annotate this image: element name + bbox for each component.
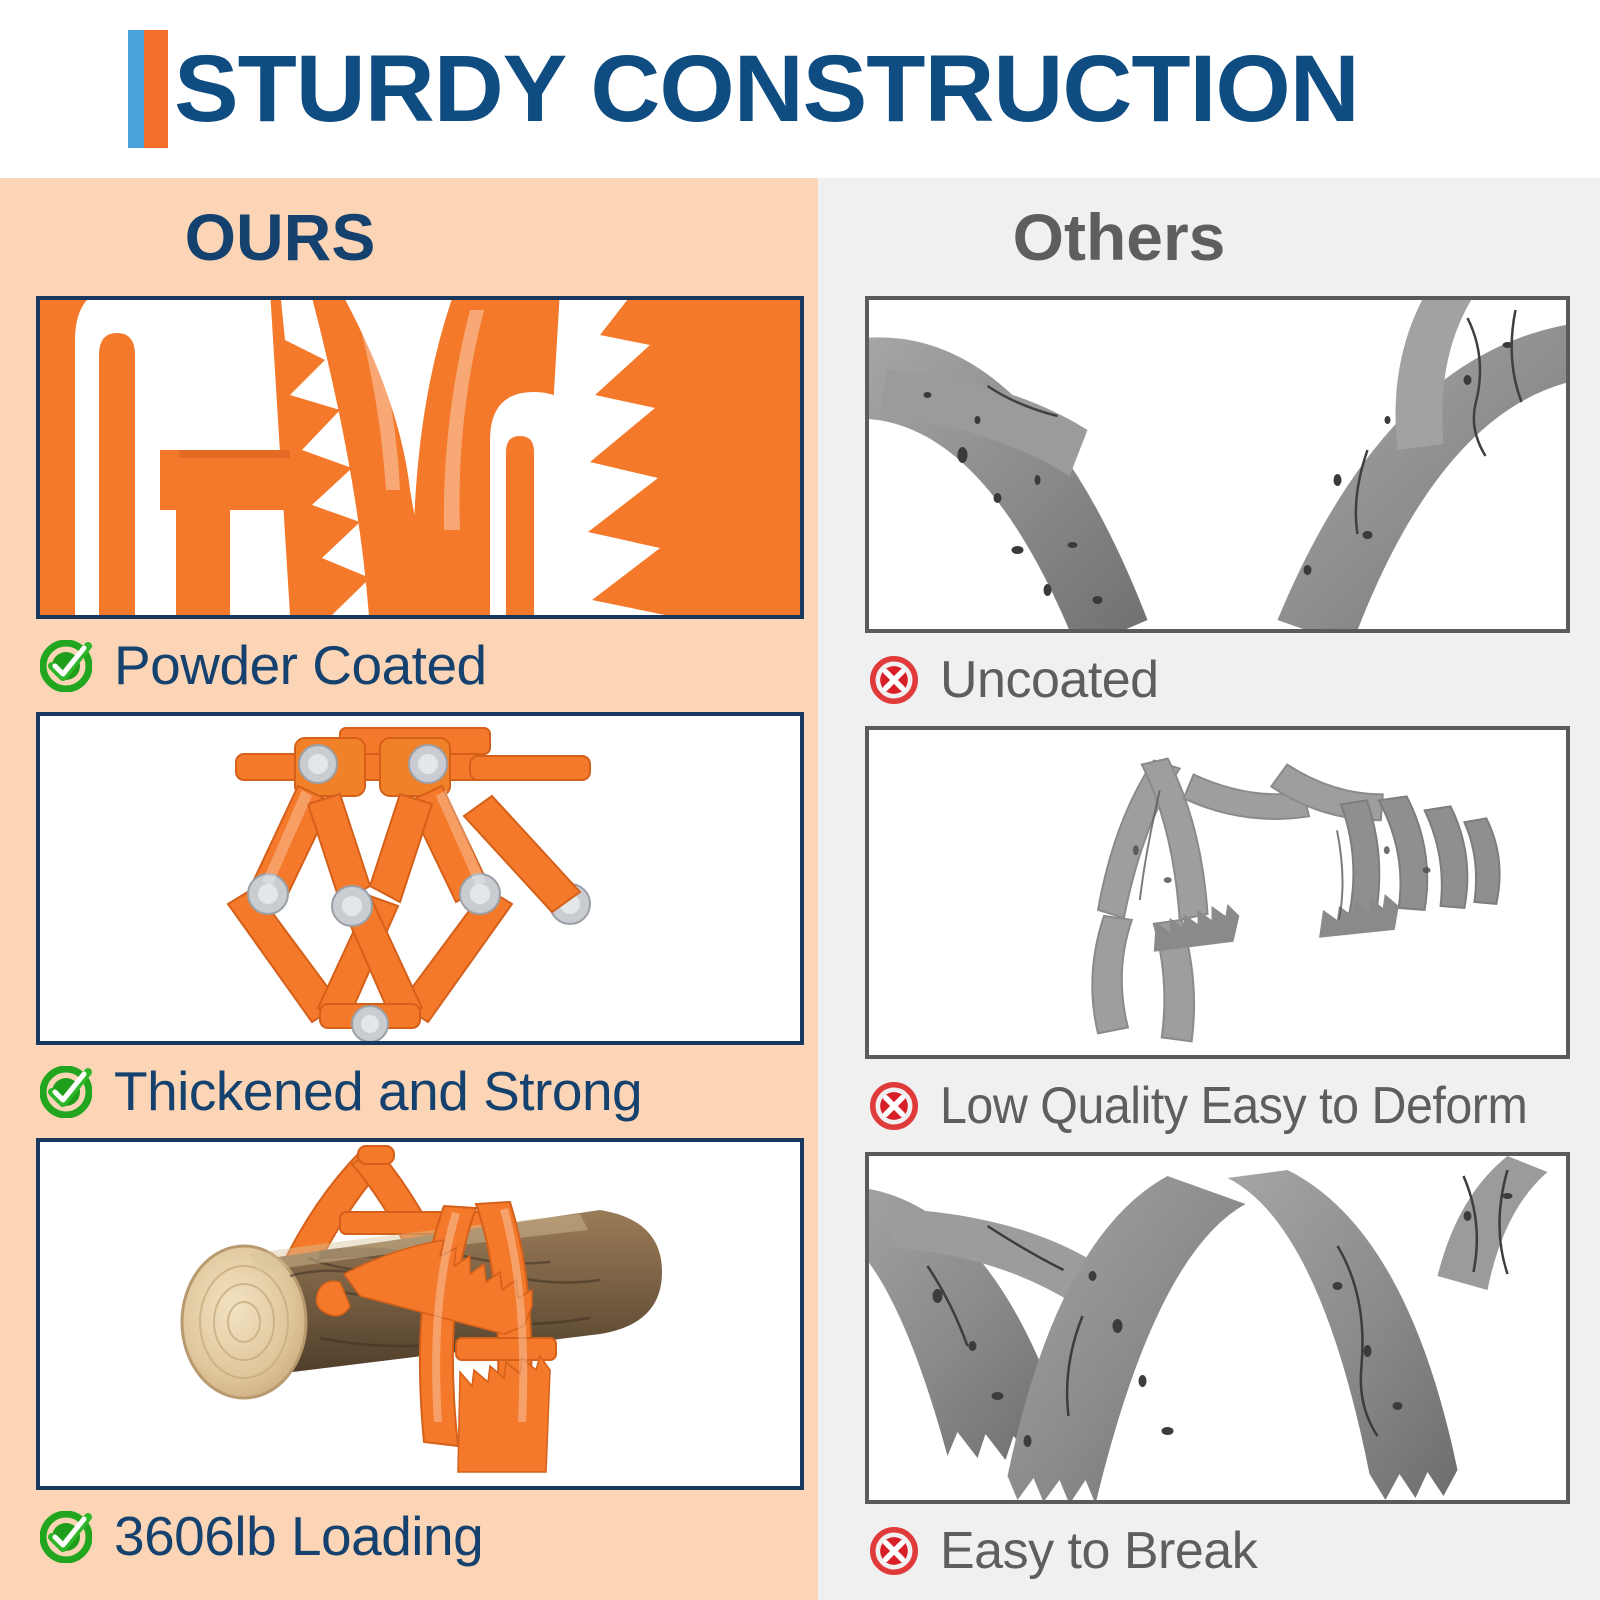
orange-powder-coated-grapple-jaw-closeup [40,300,800,615]
caption-text: Powder Coated [114,638,487,693]
comparison-panels: OURS [0,178,1600,1600]
accent-bar-orange [144,30,168,148]
image-frame-ours-2 [36,712,804,1045]
row-ours-3: 3606lb Loading [0,1138,818,1583]
cross-circle-icon [870,1082,918,1130]
row-others-2: Low Quality Easy to Deform [818,726,1600,1152]
check-circle-icon [40,1066,92,1118]
caption-ours-3: 3606lb Loading [0,1490,818,1583]
title-accent-bars [128,30,168,148]
orange-grapple-lifting-wood-log [40,1142,800,1486]
caption-text: Thickened and Strong [114,1064,642,1119]
caption-text: Low Quality Easy to Deform [940,1080,1527,1132]
image-frame-others-3 [865,1152,1570,1504]
infographic-page: STURDY CONSTRUCTION OURS [0,0,1600,1600]
caption-text: 3606lb Loading [114,1509,483,1564]
rows-others: Uncoated [818,296,1600,1597]
column-heading-ours: OURS [0,178,818,296]
panel-others: Others [818,178,1600,1600]
row-ours-1: Powder Coated [0,296,818,712]
caption-others-3: Easy to Break [818,1504,1600,1597]
gray-cracked-broken-grapple [869,1156,1566,1500]
panel-ours: OURS [0,178,818,1600]
cross-circle-icon [870,1527,918,1575]
row-ours-2: Thickened and Strong [0,712,818,1138]
image-frame-ours-1 [36,296,804,619]
column-heading-others: Others [818,178,1600,296]
page-title: STURDY CONSTRUCTION [174,42,1359,137]
caption-text: Easy to Break [940,1525,1257,1577]
caption-others-1: Uncoated [818,633,1600,726]
row-others-3: Easy to Break [818,1152,1600,1597]
caption-text: Uncoated [940,654,1159,706]
image-frame-others-2 [865,726,1570,1059]
row-others-1: Uncoated [818,296,1600,726]
gray-uncoated-pitted-jaw-closeup [869,300,1566,629]
caption-ours-1: Powder Coated [0,619,818,712]
gray-deformed-bent-grapple [869,730,1566,1055]
rows-ours: Powder Coated [0,296,818,1583]
image-frame-others-1 [865,296,1570,633]
check-circle-icon [40,1511,92,1563]
image-frame-ours-3 [36,1138,804,1490]
header-banner: STURDY CONSTRUCTION [0,0,1600,178]
cross-circle-icon [870,656,918,704]
caption-others-2: Low Quality Easy to Deform [818,1059,1600,1152]
check-circle-icon [40,640,92,692]
caption-ours-2: Thickened and Strong [0,1045,818,1138]
accent-bar-blue [128,30,144,148]
orange-grapple-bolted-linkage [40,716,800,1041]
